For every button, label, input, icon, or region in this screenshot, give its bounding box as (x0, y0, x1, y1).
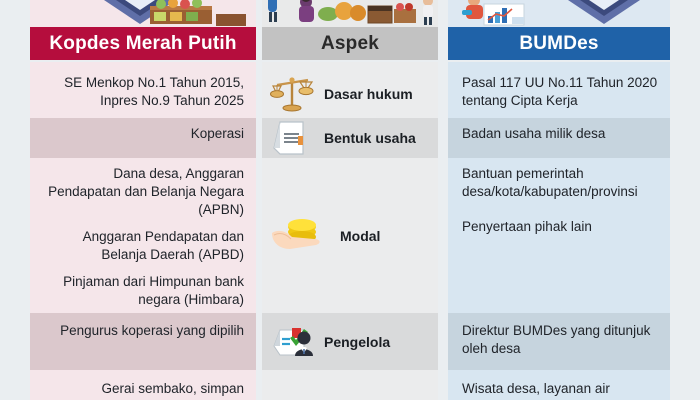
aspect-label-dasar-hukum: Dasar hukum (324, 86, 413, 102)
header-left: Kopdes Merah Putih (30, 27, 256, 60)
aspect-label-bentuk-usaha: Bentuk usaha (324, 130, 416, 146)
illustration-middle-vendor (262, 0, 438, 27)
cell-right-pengelola: Direktur BUMDes yang ditunjuk oleh desa (462, 322, 660, 358)
person-purple-figure (299, 0, 314, 22)
cell-right-bentuk-usaha: Badan usaha milik desa (462, 125, 660, 143)
analyst-desk-illustration (448, 0, 670, 27)
top-illustration-strip (0, 0, 700, 27)
cell-left-bentuk-usaha: Koperasi (40, 125, 244, 143)
header-left-label: Kopdes Merah Putih (49, 34, 236, 53)
aspect-label-modal: Modal (340, 228, 380, 244)
illustration-right-chart-desk (448, 0, 670, 27)
column-aspek: Dasar hukum Bentuk usaha (262, 62, 438, 400)
aspect-label-pengelola: Pengelola (324, 334, 390, 350)
person-id-card-icon (270, 322, 316, 362)
cell-right-modal: Bantuan pemerintah desa/kota/kabupaten/p… (462, 165, 660, 236)
illustration-left-market (30, 0, 256, 27)
vendor-with-produce-illustration (262, 0, 438, 27)
aspect-modal: Modal (262, 158, 438, 313)
column-bumdes: Pasal 117 UU No.11 Tahun 2020 tentang Ci… (448, 62, 670, 400)
aspect-bentuk-usaha: Bentuk usaha (262, 118, 438, 158)
header-right: BUMDes (448, 27, 670, 60)
header-middle-label: Aspek (321, 34, 379, 53)
column-kopdes-merah-putih: SE Menkop No.1 Tahun 2015, Inpres No.9 T… (30, 62, 256, 400)
infographic-comparison-table: Kopdes Merah Putih Aspek BUMDes SE Menko… (0, 0, 700, 400)
scales-of-justice-icon (270, 74, 316, 114)
cell-left-dasar-hukum: SE Menkop No.1 Tahun 2015, Inpres No.9 T… (40, 74, 244, 110)
cell-left-usaha: Gerai sembako, simpan (40, 380, 244, 398)
header-middle: Aspek (262, 27, 438, 60)
document-certificate-icon (270, 118, 316, 158)
market-stall-illustration (30, 0, 256, 27)
cell-left-modal: Dana desa, Anggaran Pendapatan dan Belan… (40, 165, 244, 310)
aspect-pengelola: Pengelola (262, 313, 438, 370)
cell-left-pengelola: Pengurus koperasi yang dipilih (40, 322, 244, 340)
header-right-label: BUMDes (519, 34, 598, 53)
chart-papers (484, 4, 524, 25)
aspect-dasar-hukum: Dasar hukum (262, 70, 438, 118)
cell-right-usaha: Wisata desa, layanan air (462, 380, 660, 398)
cell-right-dasar-hukum: Pasal 117 UU No.11 Tahun 2020 tentang Ci… (462, 74, 660, 110)
hand-holding-coins-icon (270, 213, 332, 259)
